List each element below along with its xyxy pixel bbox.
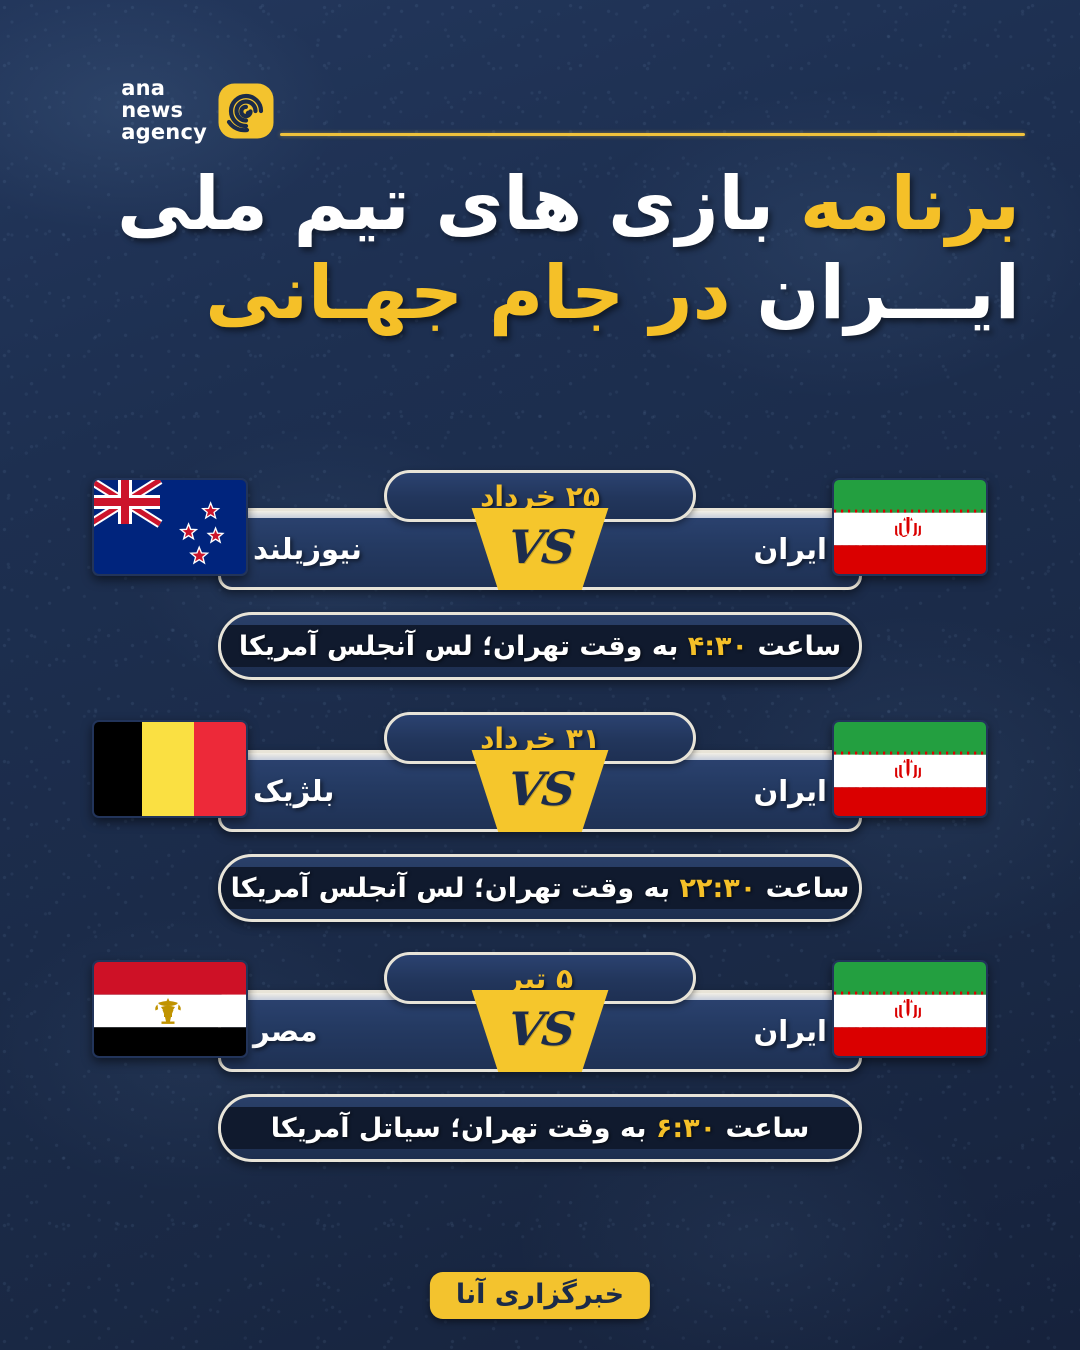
- home-team-name: ایران: [753, 753, 827, 829]
- time-value: ۲۲:۳۰: [680, 873, 757, 904]
- title-part-yellow-1: برنامه: [800, 161, 1020, 247]
- title-line-2: ایـــران در جام جهـانی: [60, 252, 1020, 335]
- home-team-name: ایران: [753, 511, 827, 587]
- title-part-white-2: ایـــران: [756, 250, 1020, 336]
- match-time-band: ساعت ۲۲:۳۰ به وقت تهران؛ لس آنجلس آمریکا: [221, 867, 859, 909]
- ana-logo-block: ana news agency: [121, 78, 275, 143]
- time-prefix: ساعت: [766, 873, 850, 904]
- header: ana news agency: [0, 78, 1080, 158]
- home-team-name: ایران: [753, 993, 827, 1069]
- time-value: ۴:۳۰: [688, 631, 748, 662]
- match-date-text: ۵ تیر: [507, 962, 573, 995]
- logo-word-1: ana: [121, 78, 207, 100]
- footer-badge: خبرگزاری آنا: [430, 1272, 650, 1319]
- iran-flag-icon: [832, 960, 988, 1058]
- time-suffix: به وقت تهران؛ لس آنجلس آمریکا: [239, 631, 679, 662]
- page-title: برنامه بازی های تیم ملی ایـــران در جام …: [60, 163, 1020, 335]
- away-team-name: مصر: [253, 993, 318, 1069]
- time-prefix: ساعت: [757, 631, 841, 662]
- match-date-text: ۳۱ خرداد: [480, 722, 600, 755]
- header-divider-rule: [280, 133, 1025, 136]
- match-time-band: ساعت ۴:۳۰ به وقت تهران؛ لس آنجلس آمریکا: [221, 625, 859, 667]
- iran-flag-icon: [832, 720, 988, 818]
- away-team-name: نیوزیلند: [253, 511, 362, 587]
- match-time-bar: ساعت ۶:۳۰ به وقت تهران؛ سیاتل آمریکا: [218, 1094, 862, 1162]
- title-line-1: برنامه بازی های تیم ملی: [60, 163, 1020, 246]
- egypt-flag-icon: [92, 960, 248, 1058]
- vs-label: VS: [505, 1002, 576, 1056]
- ana-logo-wordmark: ana news agency: [121, 78, 207, 143]
- title-part-yellow-2: در جام جهـانی: [205, 250, 730, 336]
- title-part-white-1: بازی های تیم ملی: [117, 161, 774, 247]
- match-time-bar: ساعت ۴:۳۰ به وقت تهران؛ لس آنجلس آمریکا: [218, 612, 862, 680]
- footer-label: خبرگزاری آنا: [456, 1279, 624, 1310]
- new-zealand-flag-icon: [92, 478, 248, 576]
- away-team-name: بلژیک: [253, 753, 334, 829]
- iran-flag-icon: [832, 478, 988, 576]
- match-time-text: ساعت ۲۲:۳۰ به وقت تهران؛ لس آنجلس آمریکا: [231, 873, 850, 904]
- ana-spiral-logo-icon: [217, 82, 275, 140]
- time-prefix: ساعت: [726, 1113, 810, 1144]
- match-time-text: ساعت ۶:۳۰ به وقت تهران؛ سیاتل آمریکا: [271, 1113, 810, 1144]
- belgium-flag-icon: [92, 720, 248, 818]
- match-time-bar: ساعت ۲۲:۳۰ به وقت تهران؛ لس آنجلس آمریکا: [218, 854, 862, 922]
- vs-label: VS: [505, 520, 576, 574]
- time-suffix: به وقت تهران؛ لس آنجلس آمریکا: [231, 873, 671, 904]
- match-time-band: ساعت ۶:۳۰ به وقت تهران؛ سیاتل آمریکا: [221, 1107, 859, 1149]
- match-date-text: ۲۵ خرداد: [480, 480, 600, 513]
- logo-word-3: agency: [121, 122, 207, 144]
- time-suffix: به وقت تهران؛ سیاتل آمریکا: [271, 1113, 647, 1144]
- vs-label: VS: [505, 762, 576, 816]
- infographic-poster: ana news agency برنامه بازی های تیم ملی …: [0, 0, 1080, 1350]
- logo-word-2: news: [121, 100, 207, 122]
- time-value: ۶:۳۰: [656, 1113, 716, 1144]
- match-time-text: ساعت ۴:۳۰ به وقت تهران؛ لس آنجلس آمریکا: [239, 631, 841, 662]
